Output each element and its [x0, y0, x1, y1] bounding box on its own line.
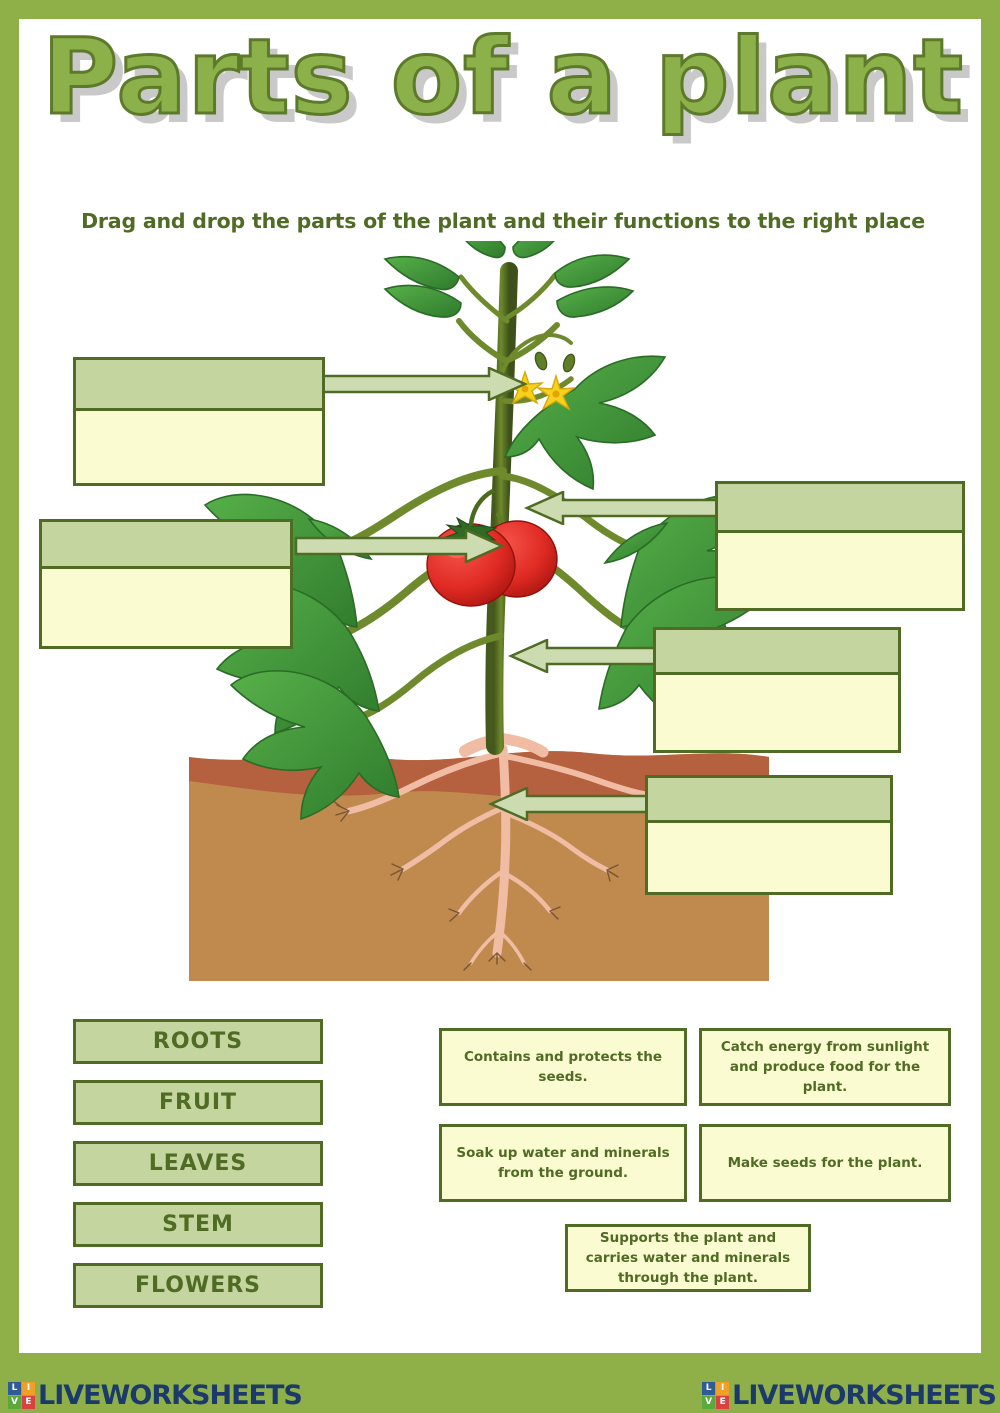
liveworksheets-wordmark-right: LIVEWORKSHEETS — [732, 1380, 996, 1411]
drop-slot-function-roots[interactable] — [645, 823, 893, 895]
drop-slot-function-flowers[interactable] — [73, 411, 325, 486]
logo-tile-i: I — [22, 1382, 35, 1395]
instruction-text: Drag and drop the parts of the plant and… — [19, 209, 984, 233]
logo-tile-l: L — [8, 1382, 21, 1395]
word-chip-stem[interactable]: STEM — [73, 1202, 323, 1247]
page-title: Parts of a plant — [42, 23, 964, 132]
function-bank: Contains and protects the seeds. Catch e… — [439, 1019, 959, 1319]
liveworksheets-wordmark-left: LIVEWORKSHEETS — [38, 1380, 302, 1411]
function-card-supports-plant[interactable]: Supports the plant and carries water and… — [565, 1224, 811, 1292]
logo-tile-e: E — [22, 1396, 35, 1409]
drop-slot-part-stem[interactable] — [653, 627, 901, 675]
liveworksheets-logo-left: L I V E LIVEWORKSHEETS — [8, 1380, 302, 1411]
page-title-container: Parts of a plant — [19, 23, 984, 132]
arrow-to-leaves — [497, 491, 735, 525]
word-chip-roots[interactable]: ROOTS — [73, 1019, 323, 1064]
drop-slot-part-roots[interactable] — [645, 775, 893, 823]
logo-tile-i: I — [716, 1382, 729, 1395]
plant-diagram — [19, 241, 984, 1001]
worksheet-sheet: Parts of a plant Drag and drop the parts… — [16, 16, 984, 1356]
liveworksheets-logo-right: L I V E LIVEWORKSHEETS — [702, 1380, 996, 1411]
liveworksheets-tiles: L I V E — [702, 1382, 729, 1409]
drop-slot-part-fruit[interactable] — [39, 519, 293, 569]
drop-zone-stem[interactable] — [653, 627, 901, 753]
word-chip-flowers[interactable]: FLOWERS — [73, 1263, 323, 1308]
word-bank: ROOTS FRUIT LEAVES STEM FLOWERS — [73, 1019, 323, 1324]
drop-zone-flowers[interactable] — [73, 357, 325, 486]
drop-zone-leaves[interactable] — [715, 481, 965, 611]
logo-tile-v: V — [702, 1396, 715, 1409]
drop-slot-function-fruit[interactable] — [39, 569, 293, 649]
function-card-sunlight-energy[interactable]: Catch energy from sunlight and produce f… — [699, 1028, 951, 1106]
arrow-to-fruit — [294, 529, 506, 563]
arrow-to-flowers — [319, 367, 529, 401]
logo-tile-l: L — [702, 1382, 715, 1395]
drop-slot-function-leaves[interactable] — [715, 533, 965, 611]
word-chip-leaves[interactable]: LEAVES — [73, 1141, 323, 1186]
word-chip-fruit[interactable]: FRUIT — [73, 1080, 323, 1125]
logo-tile-v: V — [8, 1396, 21, 1409]
drop-slot-part-flowers[interactable] — [73, 357, 325, 411]
drop-slot-part-leaves[interactable] — [715, 481, 965, 533]
drop-slot-function-stem[interactable] — [653, 675, 901, 753]
drop-zone-fruit[interactable] — [39, 519, 293, 649]
drop-zone-roots[interactable] — [645, 775, 893, 895]
logo-tile-e: E — [716, 1396, 729, 1409]
liveworksheets-tiles: L I V E — [8, 1382, 35, 1409]
function-card-make-seeds[interactable]: Make seeds for the plant. — [699, 1124, 951, 1202]
function-card-soak-water[interactable]: Soak up water and minerals from the grou… — [439, 1124, 687, 1202]
function-card-seeds-protect[interactable]: Contains and protects the seeds. — [439, 1028, 687, 1106]
